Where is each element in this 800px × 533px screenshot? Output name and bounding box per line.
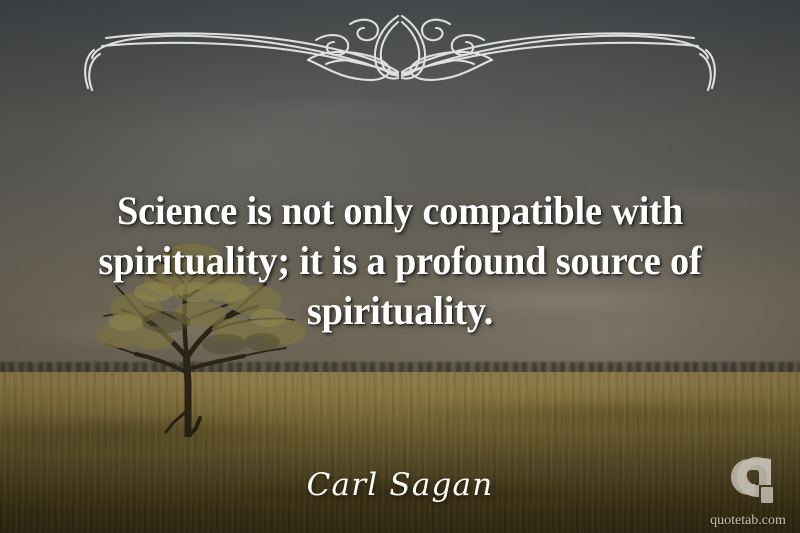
quote-line-1: Science is not only compatible with: [64, 186, 736, 236]
watermark-text[interactable]: quotetab.com: [700, 512, 796, 529]
quotetab-q-logo-icon[interactable]: [731, 455, 783, 507]
quote-author: Carl Sagan: [0, 466, 800, 504]
quote-line-3: spirituality.: [64, 286, 736, 336]
quote-line-2: spirituality; it is a profound source of: [64, 236, 736, 286]
decorative-flourish-icon: [80, 6, 720, 94]
quote-card: Science is not only compatible with spir…: [0, 0, 800, 533]
quote-block: Science is not only compatible with spir…: [50, 186, 750, 336]
